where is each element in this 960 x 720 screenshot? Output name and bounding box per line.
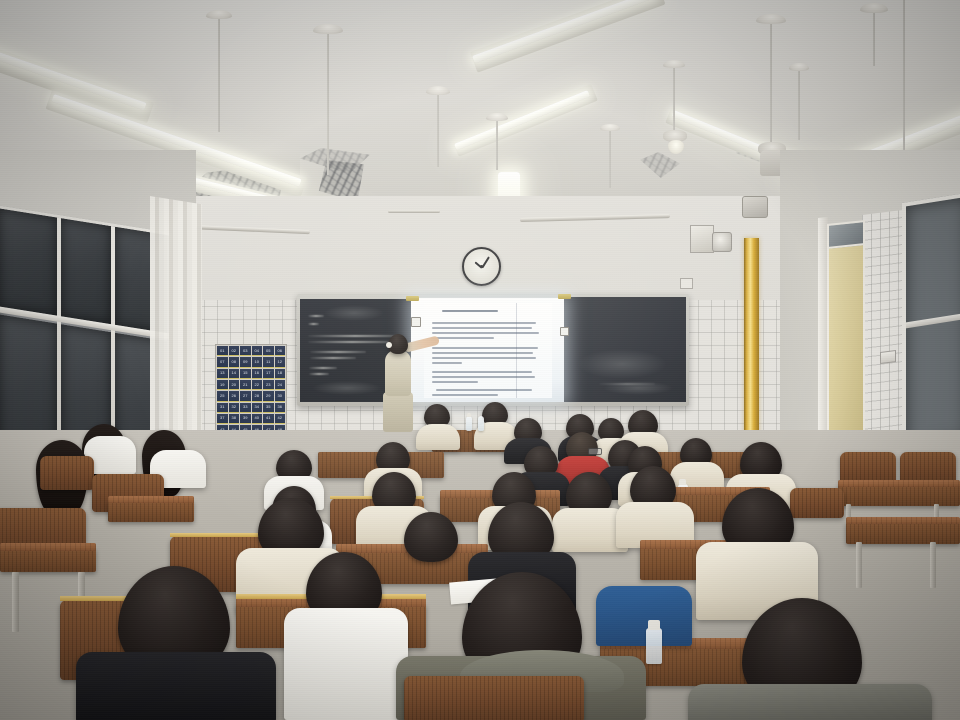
seat-number-cell: 29 (263, 391, 274, 401)
seat-number-cell: 19 (217, 380, 228, 390)
seat-number-cell: 08 (229, 357, 240, 367)
desk-leg (12, 572, 19, 632)
fan-canopy (206, 10, 232, 19)
fan-rod (873, 8, 875, 66)
desk-leg (856, 542, 862, 588)
seat-number-cell: 26 (229, 391, 240, 401)
student-head (404, 512, 458, 562)
seat-number-cell: 02 (229, 346, 240, 356)
seat-number-cell: 12 (275, 357, 286, 367)
seat-number-cell: 28 (252, 391, 263, 401)
bottle-cap (467, 413, 471, 417)
seat-number-cell: 39 (240, 414, 251, 424)
student-torso (416, 424, 460, 450)
seat-number-cell: 18 (275, 369, 286, 379)
bottle-cap (648, 620, 660, 630)
seat-number-cell: 40 (252, 414, 263, 424)
blackboard-right-panel (563, 297, 686, 402)
desk-top (838, 480, 960, 487)
seat-number-cell: 09 (240, 357, 251, 367)
wall-clock (462, 247, 501, 286)
fan-canopy (860, 3, 888, 13)
desk-top (0, 543, 96, 551)
seat-number-cell: 20 (229, 380, 240, 390)
fan-rod (437, 92, 439, 167)
fan-rod (218, 16, 220, 132)
seat-number-cell: 13 (217, 369, 228, 379)
bottle-cap (679, 479, 686, 485)
desk (108, 500, 194, 522)
desk (0, 548, 96, 572)
classroom-door[interactable] (827, 243, 865, 461)
seat-number-cell: 21 (240, 380, 251, 390)
seat-number-cell: 05 (263, 346, 274, 356)
wall-outlet (680, 278, 693, 289)
electrical-box (690, 225, 714, 253)
fan-rod (327, 30, 329, 175)
desk-top (108, 496, 194, 503)
board-magnet (560, 327, 569, 336)
fan-rod (609, 128, 611, 188)
board-clamp (558, 294, 571, 299)
fan-canopy (313, 24, 343, 34)
fan-canopy (789, 63, 809, 71)
board-clamp (406, 296, 419, 301)
seat-number-cell: 37 (217, 414, 228, 424)
gold-wrapped-pipe (744, 238, 759, 450)
seat-number-cell: 06 (275, 346, 286, 356)
desk-top (846, 517, 960, 524)
seat-number-cell: 30 (275, 391, 286, 401)
seat-number-cell: 31 (217, 403, 228, 413)
fan-canopy (663, 60, 685, 68)
seat-number-cell: 35 (263, 403, 274, 413)
seat-number-cell: 33 (240, 403, 251, 413)
student-torso (284, 608, 408, 720)
fan-rod (903, 0, 905, 150)
fan-rod (770, 20, 772, 145)
seat-number-cell: 27 (240, 391, 251, 401)
desk-leg (930, 542, 936, 588)
chair-back (404, 676, 584, 720)
fan-rod (496, 118, 498, 170)
seat-number-cell: 03 (240, 346, 251, 356)
board-magnet (411, 317, 421, 327)
seat-number-cell: 14 (229, 369, 240, 379)
seat-number-cell: 38 (229, 414, 240, 424)
water-bottle (466, 416, 472, 431)
seat-number-cell: 01 (217, 346, 228, 356)
desk (846, 522, 960, 544)
fan-rod (673, 65, 675, 132)
right-window (902, 192, 960, 453)
curtain-rail (388, 210, 440, 213)
fan-canopy (756, 14, 786, 24)
seat-number-cell: 17 (263, 369, 274, 379)
fan-canopy (486, 113, 508, 121)
classroom-photo: 0102030405060708091011121314151617181920… (0, 0, 960, 720)
seat-number-cell: 07 (217, 357, 228, 367)
chair-back (790, 488, 844, 518)
desk (838, 484, 960, 506)
light-switch[interactable] (880, 350, 896, 364)
student-torso (76, 652, 276, 720)
seat-number-cell: 11 (263, 357, 274, 367)
teacher-hair-clip (386, 342, 392, 348)
teacher-torso (385, 350, 411, 396)
glasses-icon (588, 448, 602, 455)
student-torso (596, 586, 692, 646)
fan-canopy (600, 124, 620, 131)
seat-number-cell: 04 (252, 346, 263, 356)
seat-number-cell: 16 (252, 369, 263, 379)
clock-center (480, 265, 483, 268)
water-bottle (478, 416, 484, 431)
seat-number-cell: 23 (263, 380, 274, 390)
chair-back (40, 456, 94, 490)
seat-number-cell: 24 (275, 380, 286, 390)
seat-number-cell: 22 (252, 380, 263, 390)
seat-number-cell: 10 (252, 357, 263, 367)
seat-number-cell: 41 (263, 414, 274, 424)
teacher-skirt (383, 392, 413, 432)
wall-monitor (742, 196, 768, 218)
speaker-icon (712, 232, 732, 252)
slide-margin-rule (516, 303, 517, 398)
projected-slide (424, 303, 552, 398)
seat-number-cell: 32 (229, 403, 240, 413)
fan-canopy (426, 86, 450, 95)
fan-rod (798, 68, 800, 140)
water-bottle (646, 628, 662, 664)
seat-number-cell: 34 (252, 403, 263, 413)
seat-number-cell: 42 (275, 414, 286, 424)
student-torso (688, 684, 932, 720)
seat-number-cell: 36 (275, 403, 286, 413)
seat-number-cell: 15 (240, 369, 251, 379)
seat-number-cell: 25 (217, 391, 228, 401)
